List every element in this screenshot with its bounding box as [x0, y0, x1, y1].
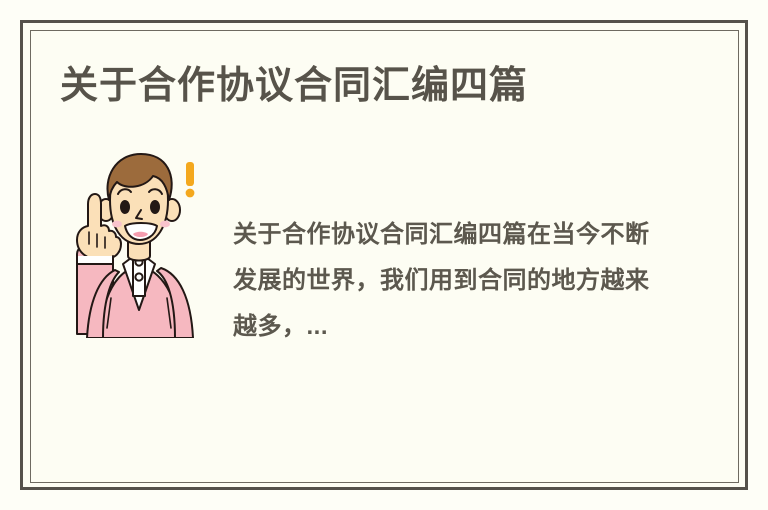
document-excerpt: 关于合作协议合同汇编四篇在当今不断发展的世界，我们用到合同的地方越来越多，...	[233, 212, 653, 350]
pointing-man-icon	[55, 138, 220, 338]
exclamation-mark-icon	[186, 162, 195, 197]
pointing-man-illustration	[55, 138, 220, 338]
document-preview-card: 关于合作协议合同汇编四篇	[0, 0, 768, 510]
page-title: 关于合作协议合同汇编四篇	[60, 62, 528, 110]
card-content: 关于合作协议合同汇编四篇	[0, 0, 768, 510]
